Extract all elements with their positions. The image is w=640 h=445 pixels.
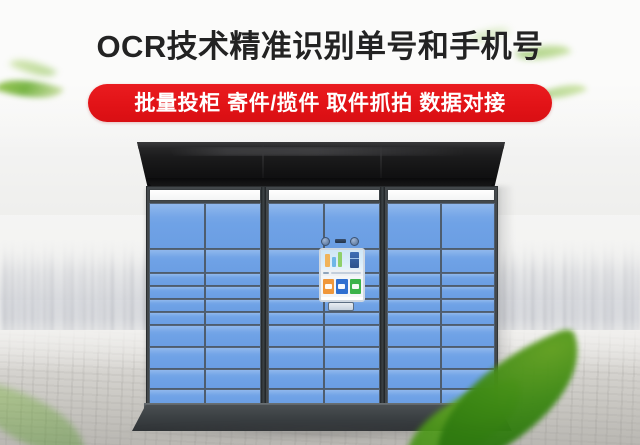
locker-door[interactable]	[205, 369, 261, 389]
canopy-highlight	[168, 147, 468, 156]
cabinet-floor-shadow	[118, 424, 528, 440]
locker-door[interactable]	[268, 347, 324, 369]
screen-tile-express[interactable]	[350, 279, 361, 294]
locker-door[interactable]	[149, 203, 205, 249]
screen-illustration	[321, 250, 363, 270]
person-icon-1	[325, 254, 330, 267]
locker-door[interactable]	[268, 325, 324, 347]
locker-door[interactable]	[205, 325, 261, 347]
locker-door[interactable]	[149, 273, 205, 286]
locker-door[interactable]	[149, 325, 205, 347]
notice-dot-icon	[323, 272, 329, 274]
locker-bay-right	[385, 187, 497, 409]
locker-door[interactable]	[149, 299, 205, 312]
card-reader-slot-icon[interactable]	[328, 302, 354, 311]
locker-door[interactable]	[387, 312, 441, 325]
locker-door[interactable]	[205, 249, 261, 273]
camera-lens-icon-left	[321, 237, 330, 246]
notice-text-line	[331, 272, 361, 274]
locker-door[interactable]	[387, 325, 441, 347]
locker-door[interactable]	[205, 347, 261, 369]
locker-icon	[350, 252, 359, 268]
screen-tile-deposit[interactable]	[323, 279, 334, 294]
locker-door[interactable]	[441, 312, 495, 325]
locker-door[interactable]	[387, 299, 441, 312]
deposit-icon	[325, 284, 332, 289]
barcode-scanner-icon	[335, 239, 346, 243]
cabinet-side-shadow	[496, 186, 514, 412]
locker-door[interactable]	[149, 286, 205, 299]
camera-lens-icon-right	[350, 237, 359, 246]
kiosk-top-sensors	[316, 236, 364, 246]
express-icon	[352, 284, 359, 289]
locker-door[interactable]	[387, 369, 441, 389]
locker-door[interactable]	[387, 286, 441, 299]
locker-door[interactable]	[387, 203, 441, 249]
locker-door[interactable]	[205, 286, 261, 299]
pickup-icon	[338, 284, 345, 289]
page-title: OCR技术精准识别单号和手机号	[0, 26, 640, 68]
person-icon-3	[338, 252, 342, 267]
person-icon-2	[332, 257, 336, 267]
locker-door[interactable]	[441, 347, 495, 369]
locker-door[interactable]	[205, 273, 261, 286]
locker-bay-left	[147, 187, 263, 409]
locker-door[interactable]	[324, 325, 380, 347]
locker-door[interactable]	[149, 369, 205, 389]
bay-header-center	[268, 189, 380, 201]
bay-header-left	[149, 189, 261, 201]
locker-icon-seam	[350, 258, 359, 259]
promo-image-stage: OCR技术精准识别单号和手机号 批量投柜 寄件/揽件 取件抓拍 数据对接	[0, 0, 640, 445]
door-grid-right	[387, 203, 495, 407]
locker-door[interactable]	[149, 312, 205, 325]
locker-door[interactable]	[441, 369, 495, 389]
locker-door[interactable]	[324, 312, 380, 325]
locker-door[interactable]	[149, 347, 205, 369]
bay-header-right	[387, 189, 495, 201]
locker-door[interactable]	[441, 299, 495, 312]
locker-door[interactable]	[387, 273, 441, 286]
locker-door[interactable]	[441, 249, 495, 273]
door-grid-left	[149, 203, 261, 407]
locker-door[interactable]	[205, 299, 261, 312]
locker-door[interactable]	[387, 249, 441, 273]
screen-tile-pickup[interactable]	[336, 279, 347, 294]
locker-door[interactable]	[205, 312, 261, 325]
locker-door[interactable]	[324, 347, 380, 369]
locker-door[interactable]	[441, 273, 495, 286]
locker-door[interactable]	[149, 249, 205, 273]
feature-badge-label: 批量投柜 寄件/揽件 取件抓拍 数据对接	[134, 93, 505, 114]
kiosk-terminal[interactable]	[316, 236, 364, 312]
locker-door[interactable]	[441, 203, 495, 249]
kiosk-touchscreen[interactable]	[319, 248, 365, 302]
locker-door[interactable]	[268, 369, 324, 389]
screen-action-tiles	[321, 276, 363, 297]
locker-door[interactable]	[441, 286, 495, 299]
canopy-underside	[146, 178, 496, 186]
locker-door[interactable]	[441, 325, 495, 347]
feature-badge-pill: 批量投柜 寄件/揽件 取件抓拍 数据对接	[88, 84, 552, 122]
locker-door[interactable]	[205, 203, 261, 249]
locker-door[interactable]	[268, 312, 324, 325]
locker-door[interactable]	[387, 347, 441, 369]
locker-door[interactable]	[324, 369, 380, 389]
